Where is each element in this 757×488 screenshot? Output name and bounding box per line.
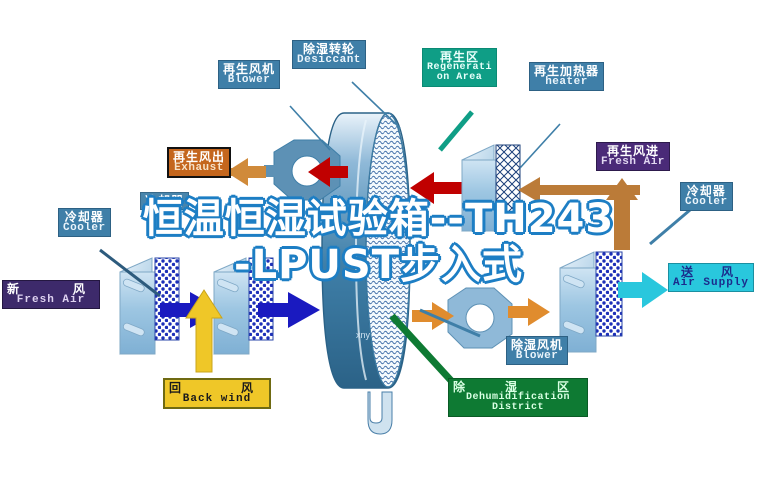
label-cooler-left-en: Cooler [63, 223, 106, 234]
label-cooler-hidden[interactable]: 冷却器 [140, 192, 189, 210]
label-regeneration-area-en2: on Area [427, 73, 492, 83]
supply-air-unit [560, 252, 622, 352]
label-dehumidification-district[interactable]: 除 湿 区 Dehumidification District [448, 378, 588, 417]
label-fresh-air[interactable]: 新 风 Fresh Air [2, 280, 100, 309]
diagram-graphics [0, 0, 757, 488]
arrow-blower-to-supply [508, 298, 550, 326]
label-fresh-air-en: Fresh Air [7, 295, 95, 306]
dehumidification-blower [448, 288, 512, 348]
label-cooler-right-en: Cooler [685, 197, 728, 208]
label-air-supply-en: Air Supply [673, 278, 749, 289]
label-exhaust-en: Exhaust [173, 163, 225, 174]
label-regen-blower-en: Blower [223, 75, 275, 86]
label-dehum-blower[interactable]: 除湿风机 Blower [506, 336, 568, 365]
label-regen-blower[interactable]: 再生风机 Blower [218, 60, 280, 89]
label-desiccant-en: Desiccant [297, 55, 361, 66]
label-air-supply[interactable]: 送 风 Air Supply [668, 263, 754, 292]
label-fresh-air-regen-en: Fresh Air [601, 157, 665, 168]
label-regen-heater-en: heater [534, 77, 599, 88]
label-back-wind[interactable]: 回 风 Back wind [163, 378, 271, 409]
label-regeneration-area[interactable]: 再生区 Regenerati on Area [422, 48, 497, 87]
label-cooler-left[interactable]: 冷却器 Cooler [58, 208, 111, 237]
label-back-wind-en: Back wind [169, 394, 265, 405]
arrow-regen-hot-in [410, 172, 470, 204]
label-exhaust[interactable]: 再生风出 Exhaust [167, 147, 231, 178]
label-dehum-blower-en: Blower [511, 351, 563, 362]
dehumidifier-flow-diagram: 除湿转轮 Desiccant 再生风机 Blower 再生区 Regenerat… [0, 0, 757, 488]
label-regen-heater[interactable]: 再生加热器 heater [529, 62, 604, 91]
label-dehum-district-en2: District [453, 403, 583, 413]
label-fresh-air-regen[interactable]: 再生风进 Fresh Air [596, 142, 670, 171]
regeneration-heater [462, 145, 520, 231]
label-desiccant[interactable]: 除湿转轮 Desiccant [292, 40, 366, 69]
label-cooler-hidden-cn: 冷却器 [145, 195, 184, 207]
arrow-air-supply [618, 272, 668, 308]
label-cooler-right[interactable]: 冷却器 Cooler [680, 182, 733, 211]
wheel-watermark: xny [356, 330, 370, 340]
